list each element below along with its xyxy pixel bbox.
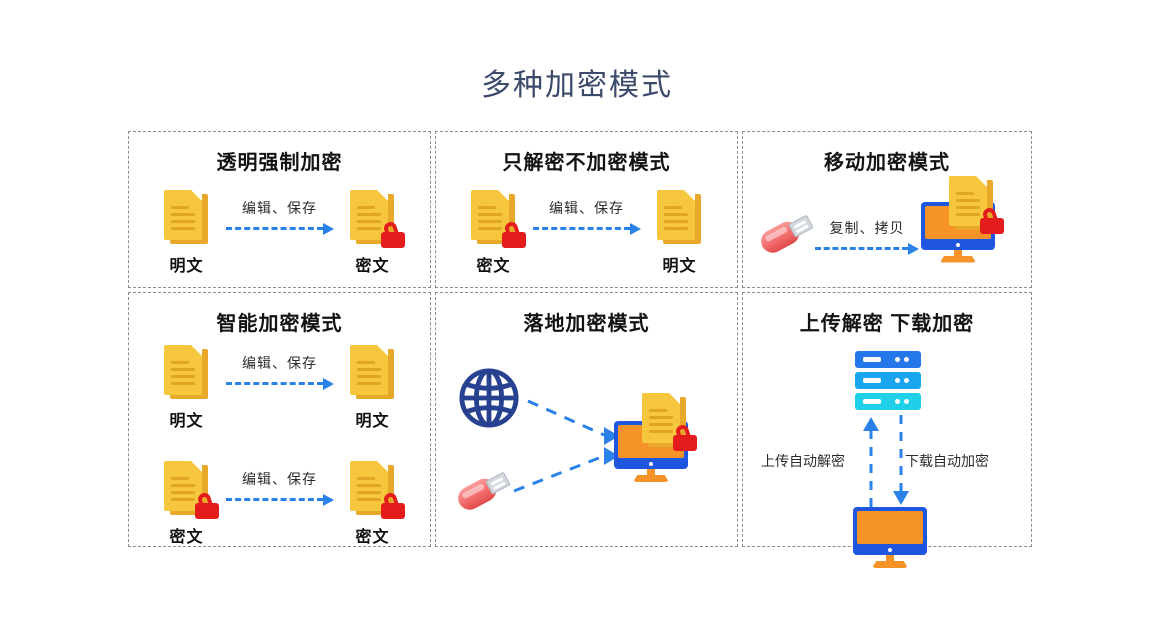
flow-target: 明文 bbox=[334, 345, 412, 431]
page-title: 多种加密模式 bbox=[0, 60, 1154, 104]
panel-mobile-encryption[interactable]: 移动加密模式 复制、拷贝 bbox=[742, 131, 1032, 288]
lock-icon bbox=[380, 493, 406, 519]
lock-icon bbox=[501, 222, 527, 248]
panel-body: 复制、拷贝 bbox=[743, 178, 1031, 287]
lock-icon bbox=[194, 493, 220, 519]
panel-decrypt-only[interactable]: 只解密不加密模式 bbox=[435, 131, 738, 288]
target-caption: 明文 bbox=[355, 407, 389, 431]
arrow-right-icon bbox=[226, 224, 334, 234]
usb-drive-icon bbox=[456, 467, 512, 513]
panel-body: 明文 编辑、保存 bbox=[129, 178, 430, 287]
flow-source: 明文 bbox=[148, 345, 226, 431]
usb-drive-icon bbox=[759, 210, 815, 256]
target-caption: 明文 bbox=[662, 252, 696, 276]
computer-icon bbox=[853, 507, 927, 569]
arrow-right-icon bbox=[226, 379, 334, 389]
panel-smart-encryption[interactable]: 智能加密模式 明文 编辑、保存 bbox=[128, 292, 431, 547]
flow-source: 密文 bbox=[455, 190, 533, 276]
arrow-right-icon bbox=[815, 244, 919, 254]
document-locked-icon bbox=[164, 461, 210, 517]
lock-icon bbox=[979, 208, 1005, 234]
action-label: 编辑、保存 bbox=[226, 198, 334, 218]
action-label: 编辑、保存 bbox=[226, 469, 334, 489]
panel-transparent-encryption[interactable]: 透明强制加密 明文 编辑、保存 bbox=[128, 131, 431, 288]
document-locked-icon bbox=[949, 176, 995, 232]
panel-cloud-transfer[interactable]: 上传解密 下载加密 上传自动解密 下载自动加密 bbox=[742, 292, 1032, 547]
source-caption: 明文 bbox=[169, 407, 203, 431]
document-icon bbox=[350, 345, 396, 401]
panel-title: 透明强制加密 bbox=[129, 146, 430, 175]
source-caption: 密文 bbox=[169, 523, 203, 547]
document-icon bbox=[657, 190, 703, 246]
panel-title: 只解密不加密模式 bbox=[436, 146, 737, 175]
panel-title: 上传解密 下载加密 bbox=[743, 307, 1031, 336]
action-label: 编辑、保存 bbox=[226, 353, 334, 373]
flow-source: 明文 bbox=[148, 190, 226, 276]
download-label: 下载自动加密 bbox=[905, 451, 989, 471]
source-caption: 密文 bbox=[476, 252, 510, 276]
panel-title: 落地加密模式 bbox=[436, 307, 737, 336]
server-stack-icon bbox=[855, 351, 921, 410]
flow-action: 编辑、保存 bbox=[226, 461, 334, 505]
target-caption: 密文 bbox=[355, 252, 389, 276]
flow-source: 密文 bbox=[148, 461, 226, 547]
flow-target: 明文 bbox=[641, 190, 719, 276]
document-icon bbox=[164, 190, 210, 246]
document-locked-icon bbox=[350, 190, 396, 246]
document-locked-icon bbox=[350, 461, 396, 517]
document-icon bbox=[164, 345, 210, 401]
arrow-right-icon bbox=[226, 495, 334, 505]
panel-title: 移动加密模式 bbox=[743, 146, 1031, 175]
panel-body: 明文 编辑、保存 明文 bbox=[129, 339, 430, 546]
computer-encrypted-icon bbox=[614, 421, 688, 483]
flow-action: 编辑、保存 bbox=[533, 190, 641, 234]
source-caption: 明文 bbox=[169, 252, 203, 276]
target-caption: 密文 bbox=[355, 523, 389, 547]
action-label: 复制、拷贝 bbox=[815, 218, 919, 238]
document-locked-icon bbox=[642, 393, 688, 449]
globe-icon bbox=[458, 367, 520, 434]
document-locked-icon bbox=[471, 190, 517, 246]
lock-icon bbox=[672, 425, 698, 451]
panel-title: 智能加密模式 bbox=[129, 307, 430, 336]
smart-row-plaintext: 明文 编辑、保存 明文 bbox=[129, 345, 430, 431]
flow-action: 编辑、保存 bbox=[226, 190, 334, 234]
action-label: 编辑、保存 bbox=[533, 198, 641, 218]
flow-target: 密文 bbox=[334, 190, 412, 276]
flow-action: 编辑、保存 bbox=[226, 345, 334, 389]
mode-panel-grid: 透明强制加密 明文 编辑、保存 bbox=[128, 131, 1032, 547]
computer-encrypted-icon bbox=[921, 202, 995, 264]
panel-body: 密文 编辑、保存 bbox=[436, 178, 737, 287]
arrow-right-icon bbox=[533, 224, 641, 234]
flow-action: 复制、拷贝 bbox=[815, 212, 919, 254]
flow-target: 密文 bbox=[334, 461, 412, 547]
upload-label: 上传自动解密 bbox=[761, 451, 845, 471]
panel-landing-encryption[interactable]: 落地加密模式 bbox=[435, 292, 738, 547]
lock-icon bbox=[380, 222, 406, 248]
smart-row-ciphertext: 密文 编辑、保存 bbox=[129, 461, 430, 547]
